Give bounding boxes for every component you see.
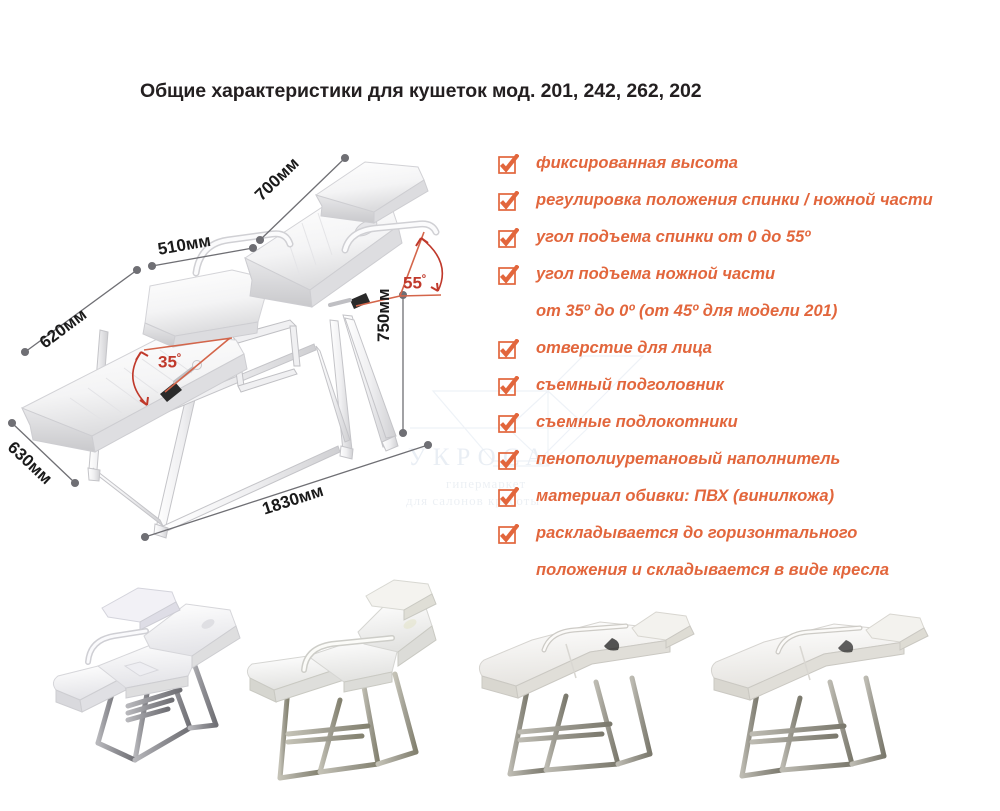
feature-label: от 35º до 0º (от 45º для модели 201) [536, 300, 837, 322]
feature-label: съемный подголовник [536, 374, 724, 396]
angle-55-degree: º [422, 273, 426, 285]
checkbox-checked-icon [498, 265, 519, 285]
checkbox-checked-icon [498, 228, 519, 248]
checkbox-checked-icon [498, 413, 519, 433]
feature-label: регулировка положения спинки / ножной ча… [536, 189, 933, 211]
photo-couch-3[interactable] [470, 578, 720, 811]
feature-label: угол подъема спинки от 0 до 55º [536, 226, 810, 248]
feature-item: пенополиуретановый наполнитель [498, 448, 998, 485]
feature-label: съемные подлокотники [536, 411, 738, 433]
technical-drawing: 700мм 510мм 620мм 630мм 750мм 1830мм 55º… [0, 140, 480, 560]
checkbox-checked-icon [498, 450, 519, 470]
feature-label: угол подъема ножной части [536, 263, 775, 285]
angle-label-55deg: 55º [403, 273, 426, 294]
feature-item: съемный подголовник [498, 374, 998, 411]
feature-item: угол подъема ножной части [498, 263, 998, 300]
feature-label: раскладывается до горизонтального [536, 522, 857, 544]
product-spec-page: Общие характеристики для кушеток мод. 20… [0, 0, 1000, 811]
angle-55-value: 55 [403, 274, 422, 293]
feature-item: материал обивки: ПВХ (винилкожа) [498, 485, 998, 522]
checkbox-checked-icon [498, 339, 519, 359]
checkbox-checked-icon [498, 191, 519, 211]
dimension-label-750mm: 750мм [374, 288, 394, 342]
angle-35-degree: º [177, 352, 181, 364]
photo-couch-4[interactable] [700, 578, 950, 811]
feature-item: раскладывается до горизонтального [498, 522, 998, 559]
feature-item: отверстие для лица [498, 337, 998, 374]
features-list: фиксированная высота регулировка положен… [498, 152, 998, 596]
feature-label: материал обивки: ПВХ (винилкожа) [536, 485, 834, 507]
feature-item: съемные подлокотники [498, 411, 998, 448]
feature-label: фиксированная высота [536, 152, 738, 174]
feature-item: фиксированная высота [498, 152, 998, 189]
page-title: Общие характеристики для кушеток мод. 20… [140, 80, 701, 103]
feature-label: отверстие для лица [536, 337, 712, 359]
checkbox-checked-icon [498, 524, 519, 544]
feature-item: угол подъема спинки от 0 до 55º [498, 226, 998, 263]
checkbox-checked-icon [498, 154, 519, 174]
feature-item: регулировка положения спинки / ножной ча… [498, 189, 998, 226]
product-photo-gallery [0, 578, 1000, 811]
couch-illustration [0, 140, 480, 560]
checkbox-checked-icon [498, 487, 519, 507]
angle-35-value: 35 [158, 353, 177, 372]
angle-label-35deg: 35º [158, 352, 181, 373]
feature-item-continuation: от 35º до 0º (от 45º для модели 201) [498, 300, 998, 337]
checkbox-checked-icon [498, 376, 519, 396]
feature-label: пенополиуретановый наполнитель [536, 448, 840, 470]
photo-couch-2[interactable] [240, 578, 490, 811]
